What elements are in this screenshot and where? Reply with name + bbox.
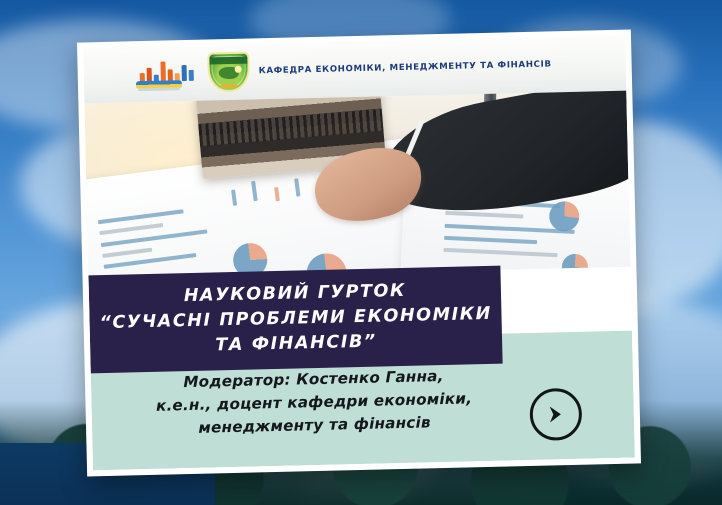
stock-photo-desk-charts <box>84 91 630 280</box>
shield-band <box>209 57 247 65</box>
shield-scroll <box>221 84 237 88</box>
next-button[interactable] <box>529 388 582 441</box>
title-banner: НАУКОВИЙ ГУРТОК “СУЧАСНІ ПРОБЛЕМИ ЕКОНОМ… <box>88 266 502 373</box>
logo-group <box>83 52 250 96</box>
green-shield-crest-logo <box>207 52 250 93</box>
city-emblem-bars <box>139 59 194 82</box>
department-heading: КАФЕДРА ЕКОНОМІКИ, МЕНЕДЖМЕНТУ ТА ФІНАНС… <box>259 57 626 78</box>
city-emblem-logo <box>135 56 182 91</box>
poster-card: КАФЕДРА ЕКОНОМІКИ, МЕНЕДЖМЕНТУ ТА ФІНАНС… <box>77 30 641 477</box>
moderator-block: Модератор: Костенко Ганна, к.е.н., доцен… <box>113 363 516 442</box>
chevron-right-icon <box>546 403 567 425</box>
city-emblem-plinth <box>138 87 180 91</box>
poster-inner: КАФЕДРА ЕКОНОМІКИ, МЕНЕДЖМЕНТУ ТА ФІНАНС… <box>83 35 635 471</box>
notebook-spiral <box>198 109 383 146</box>
